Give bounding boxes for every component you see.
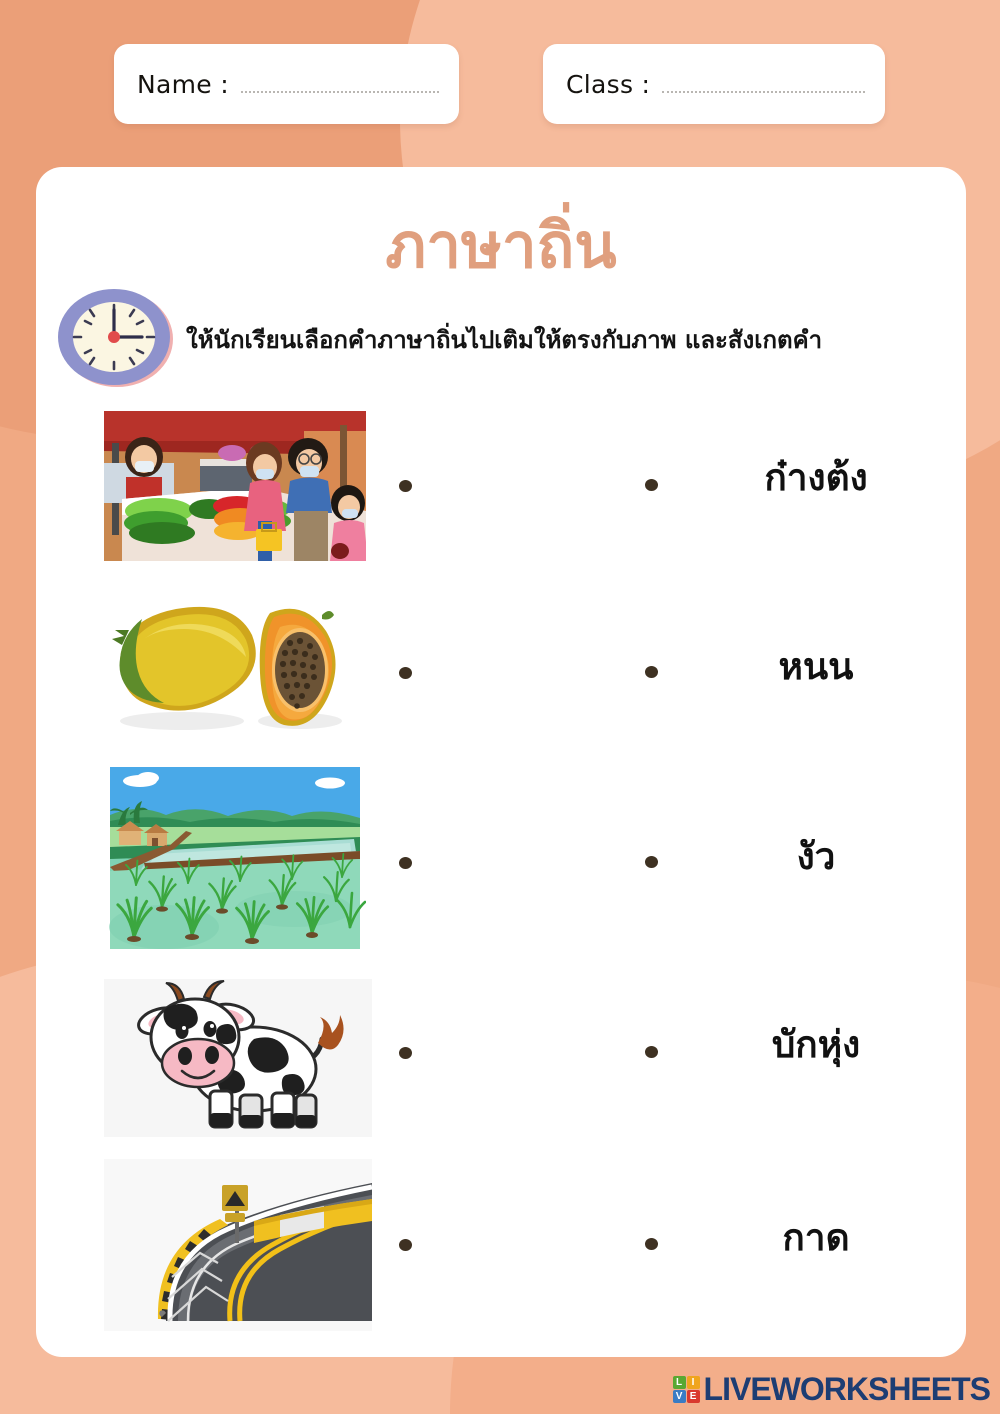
right-bullet-2[interactable] (645, 666, 658, 678)
logo-tile-e: E (687, 1390, 700, 1403)
word-option-2[interactable]: หนน (686, 646, 946, 689)
logo-tile-i: I (687, 1376, 700, 1389)
clock-icon (55, 285, 177, 389)
class-label: Class : (566, 70, 650, 99)
left-bullet-4[interactable] (399, 1047, 412, 1059)
matching-exercise: ก๋างต้ง (36, 397, 966, 1297)
name-label: Name : (137, 70, 229, 99)
logo-text: LIVEWORKSHEETS (704, 1371, 990, 1408)
left-bullet-1[interactable] (399, 480, 412, 492)
name-field[interactable]: Name : (114, 44, 459, 124)
logo-tiles: L I V E (673, 1376, 700, 1403)
right-bullet-3[interactable] (645, 856, 658, 868)
header-fields: Name : Class : (114, 44, 889, 124)
logo-tile-v: V (673, 1390, 686, 1403)
instruction-text: ให้นักเรียนเลือกคำภาษาถิ่นไปเติมให้ตรงกั… (186, 325, 896, 356)
class-field[interactable]: Class : (543, 44, 885, 124)
left-bullet-5[interactable] (399, 1239, 412, 1251)
picture-rice-field[interactable] (104, 759, 366, 957)
picture-cow[interactable] (104, 979, 372, 1137)
left-bullet-3[interactable] (399, 857, 412, 869)
right-bullet-1[interactable] (645, 479, 658, 491)
picture-market-scene[interactable] (104, 411, 366, 561)
word-option-3[interactable]: งัว (686, 836, 946, 879)
logo-tile-l: L (673, 1376, 686, 1389)
right-bullet-5[interactable] (645, 1238, 658, 1250)
liveworksheets-logo[interactable]: L I V E LIVEWORKSHEETS (673, 1371, 990, 1408)
word-option-5[interactable]: กาด (686, 1217, 946, 1260)
picture-papaya[interactable] (104, 573, 362, 747)
word-option-4[interactable]: บักหุ่ง (686, 1024, 946, 1067)
page-title: ภาษาถิ่น (36, 212, 966, 280)
word-option-1[interactable]: ก๋างต้ง (686, 457, 946, 500)
picture-road[interactable] (104, 1159, 372, 1331)
name-input-line[interactable] (241, 91, 439, 93)
worksheet-card: ภาษาถิ่น ให้น (36, 167, 966, 1357)
left-bullet-2[interactable] (399, 667, 412, 679)
right-bullet-4[interactable] (645, 1046, 658, 1058)
class-input-line[interactable] (662, 91, 865, 93)
